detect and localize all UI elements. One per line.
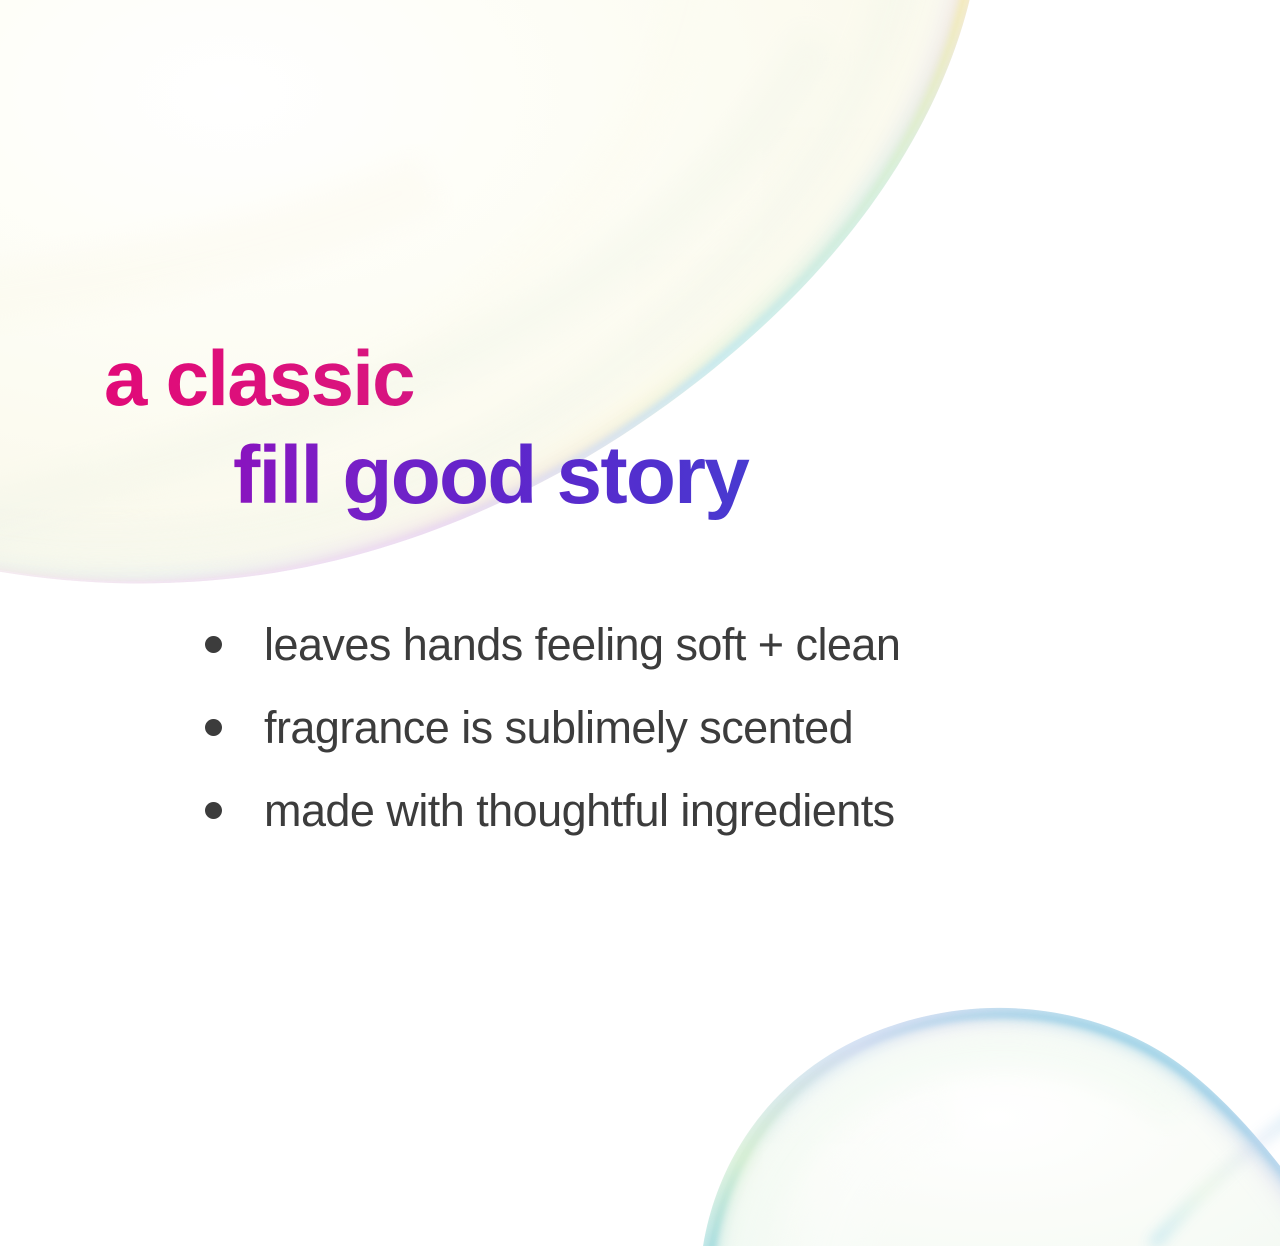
bullet-text: made with thoughtful ingredients (264, 788, 895, 833)
bullet-dot-icon (205, 802, 222, 819)
bullet-text: fragrance is sublimely scented (264, 705, 853, 750)
bottom-right-bubble (699, 1007, 1280, 1246)
bullet-text: leaves hands feeling soft + clean (264, 622, 900, 667)
list-item: leaves hands feeling soft + clean (205, 603, 1280, 686)
headline: a classic fill good story (0, 330, 1280, 526)
list-item: made with thoughtful ingredients (205, 769, 1280, 852)
benefits-list: leaves hands feeling soft + clean fragra… (0, 603, 1280, 852)
bullet-dot-icon (205, 636, 222, 653)
bullet-dot-icon (205, 719, 222, 736)
list-item: fragrance is sublimely scented (205, 686, 1280, 769)
headline-line-2: fill good story (233, 426, 1280, 526)
product-story-panel: a classic fill good story leaves hands f… (0, 0, 1280, 1246)
headline-line-1: a classic (104, 330, 1280, 426)
